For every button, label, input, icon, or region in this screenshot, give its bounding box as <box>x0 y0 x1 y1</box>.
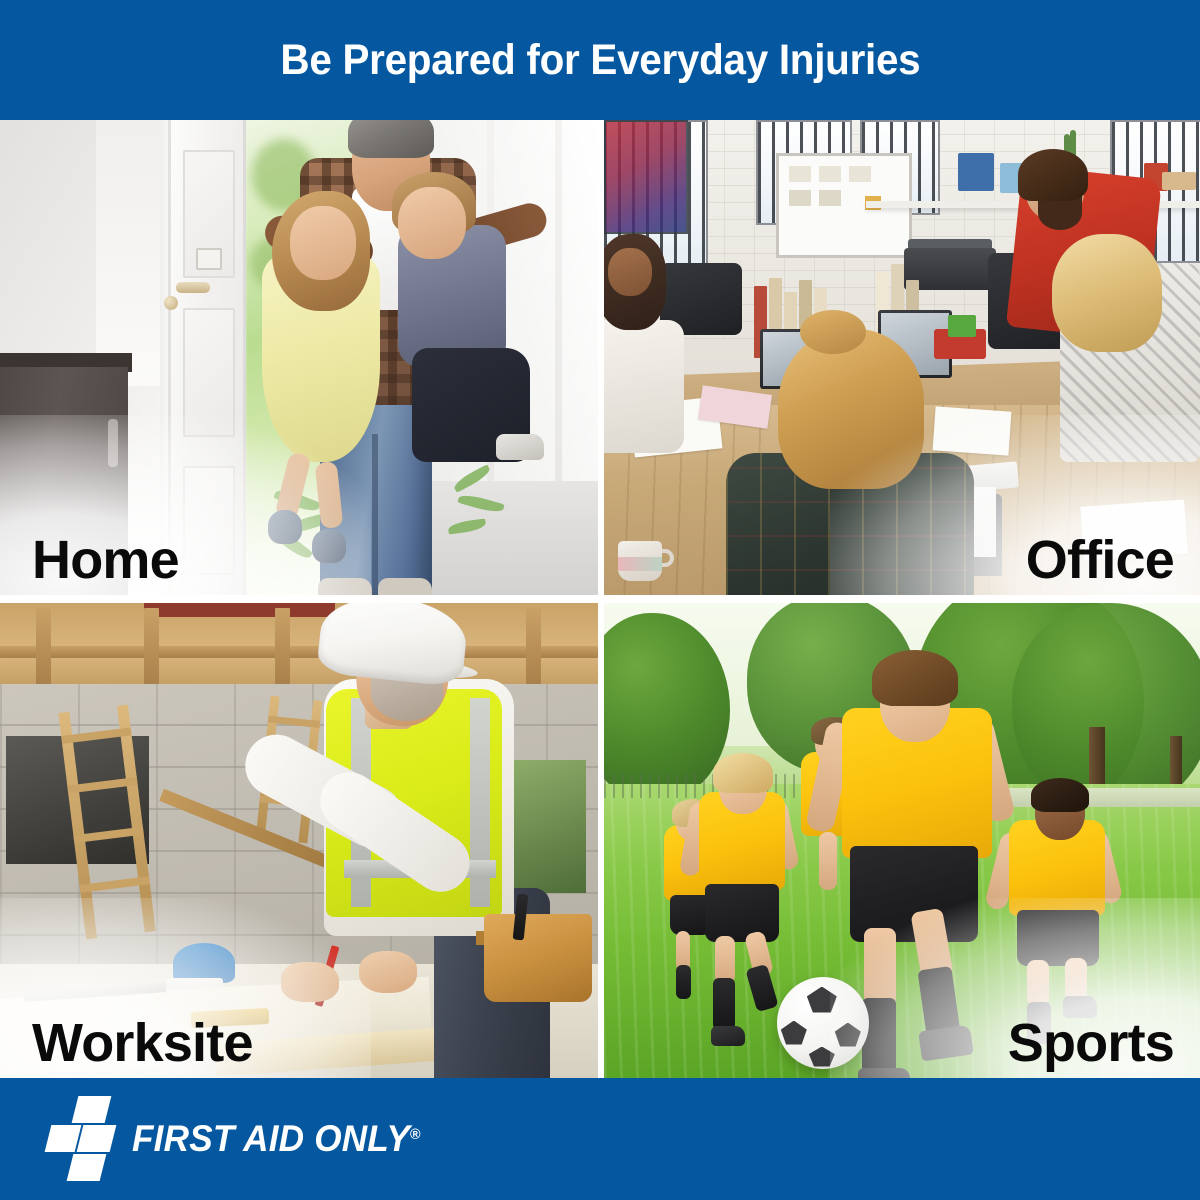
brand-name-text: FIRST AID ONLY <box>132 1118 410 1159</box>
sports-scene-image <box>604 603 1200 1078</box>
page-title: Be Prepared for Everyday Injuries <box>280 39 920 82</box>
office-scene-image <box>604 120 1200 595</box>
panel-home[interactable]: Home <box>0 120 598 595</box>
panel-sports[interactable]: Sports <box>604 603 1200 1078</box>
panel-label-sports: Sports <box>1008 1015 1174 1072</box>
panel-worksite[interactable]: Worksite <box>0 603 598 1078</box>
soccer-ball-icon <box>777 977 869 1069</box>
grid-gap-horizontal <box>0 595 1200 603</box>
brand-name: FIRST AID ONLY® <box>132 1118 421 1160</box>
marketing-poster: Be Prepared for Everyday Injuries <box>0 0 1200 1200</box>
panel-grid: Home <box>0 120 1200 1078</box>
registered-trademark-symbol: ® <box>410 1126 421 1143</box>
first-aid-cross-icon <box>48 1096 126 1182</box>
home-scene-image <box>0 120 598 595</box>
header-banner: Be Prepared for Everyday Injuries <box>0 0 1200 120</box>
brand-logo[interactable]: FIRST AID ONLY® <box>48 1096 436 1182</box>
footer-bar: FIRST AID ONLY® <box>0 1078 1200 1200</box>
panel-label-home: Home <box>32 532 179 589</box>
panel-office[interactable]: Office <box>604 120 1200 595</box>
panel-label-worksite: Worksite <box>32 1015 253 1072</box>
panel-label-office: Office <box>1026 532 1174 589</box>
worksite-scene-image <box>0 603 598 1078</box>
